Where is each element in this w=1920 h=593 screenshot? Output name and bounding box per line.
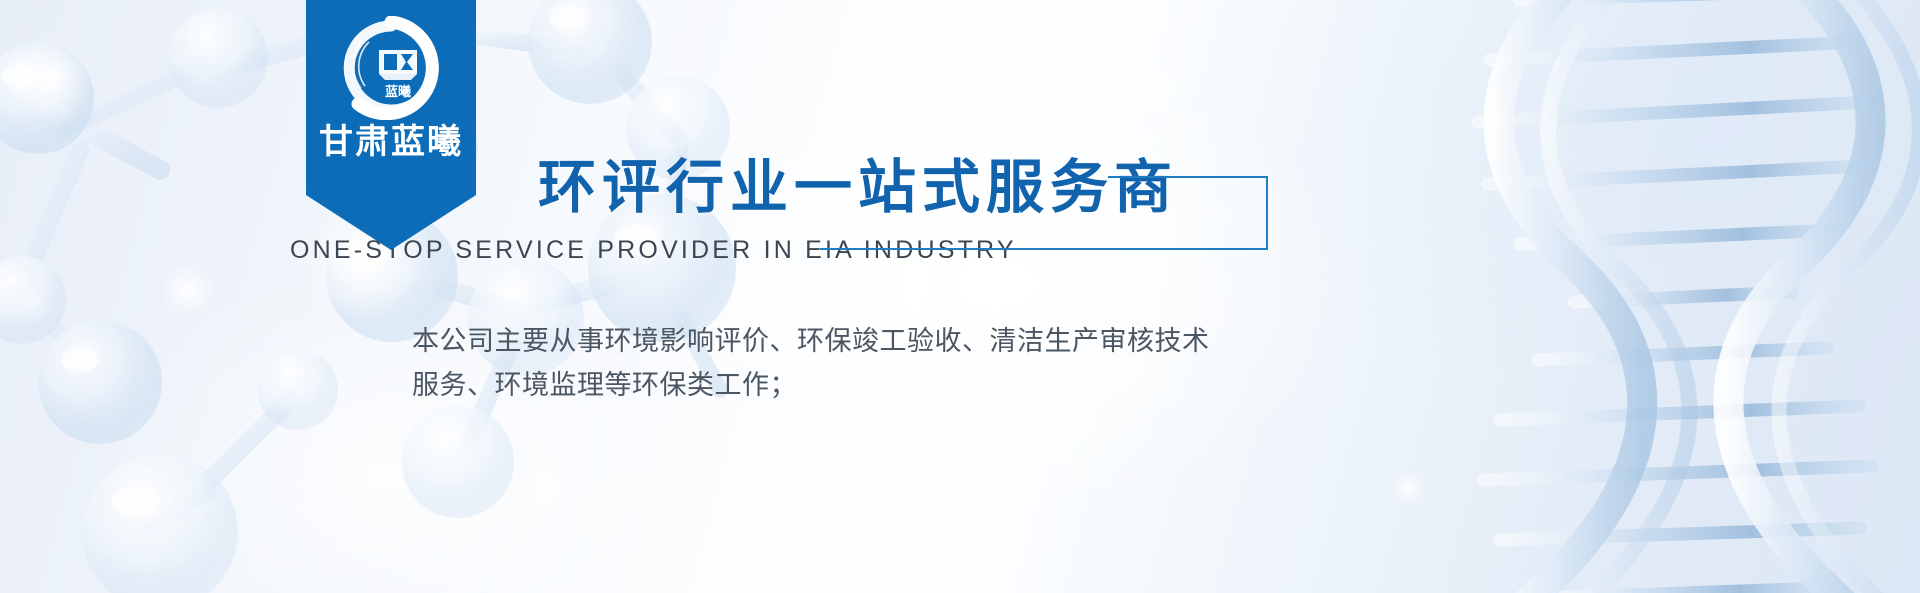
company-badge: 蓝曦 甘肃蓝曦 (306, 0, 476, 250)
page-title: 环评行业一站式服务商 (538, 140, 1178, 224)
body-line: 服务、环境监理等环保类工作； (412, 364, 1192, 408)
bracket-vertical-line (1266, 176, 1268, 250)
bokeh-dot (1120, 60, 1184, 124)
bokeh-dot (160, 262, 216, 318)
bokeh-dot (1390, 470, 1426, 506)
logo-mark-label: 蓝曦 (385, 84, 411, 99)
body-paragraph: 本公司主要从事环境影响评价、环保竣工验收、清洁生产审核技术 服务、环境监理等环保… (412, 320, 1192, 407)
bracket-bottom-line (820, 248, 1268, 250)
bokeh-dot (526, 468, 566, 508)
dna-helix-icon (1360, 0, 1920, 593)
bracket-top-line (1108, 176, 1268, 178)
background-glow (0, 0, 1920, 593)
company-emblem-icon: 蓝曦 (339, 16, 443, 120)
body-line: 本公司主要从事环境影响评价、环保竣工验收、清洁生产审核技术 (412, 320, 1192, 364)
hero-banner: 蓝曦 甘肃蓝曦 环评行业一站式服务商 ONE-STOP SERVICE PROV… (0, 0, 1920, 593)
company-name-label: 甘肃蓝曦 (306, 124, 476, 161)
bokeh-dot (8, 36, 94, 122)
